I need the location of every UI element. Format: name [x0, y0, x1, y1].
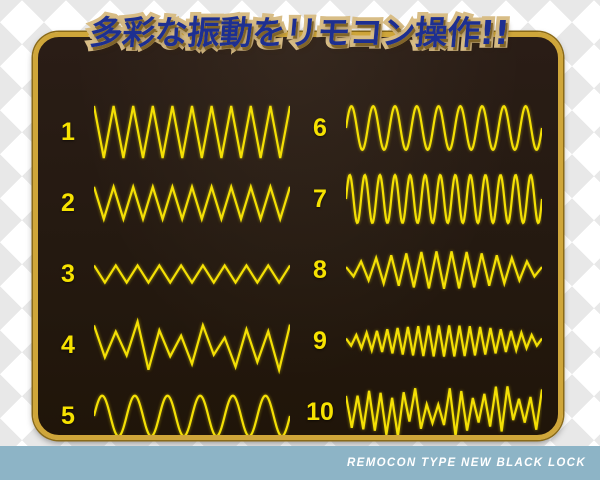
waveform-row-3[interactable]: 3 [48, 241, 290, 307]
waveform-row-7[interactable]: 7 [300, 166, 542, 232]
waveform-row-list: 12345678910 [38, 37, 558, 435]
waveform-number-label-2: 2 [48, 191, 88, 216]
waveform-trace-9 [346, 310, 542, 372]
waveform-number-label-5: 5 [48, 404, 88, 429]
waveform-panel: 12345678910 [33, 32, 563, 440]
waveform-row-4[interactable]: 4 [48, 312, 290, 378]
footer-product-label: REMOCON TYPE NEW BLACK LOCK [347, 457, 600, 469]
waveform-trace-1 [94, 101, 290, 163]
vibration-pattern-poster: 12345678910 多彩な振動をリモコン操作!! REMOCON TYPE … [0, 0, 600, 480]
waveform-row-8[interactable]: 8 [300, 237, 542, 303]
waveform-number-label-8: 8 [300, 258, 340, 283]
waveform-row-6[interactable]: 6 [300, 95, 542, 161]
footer-bar: REMOCON TYPE NEW BLACK LOCK [0, 446, 600, 480]
waveform-trace-3 [94, 243, 290, 305]
waveform-number-label-9: 9 [300, 329, 340, 354]
waveform-number-label-4: 4 [48, 333, 88, 358]
waveform-trace-7 [346, 168, 542, 230]
waveform-trace-8 [346, 239, 542, 301]
waveform-row-1[interactable]: 1 [48, 99, 290, 165]
waveform-trace-6 [346, 97, 542, 159]
waveform-number-label-7: 7 [300, 187, 340, 212]
waveform-trace-2 [94, 172, 290, 234]
waveform-row-2[interactable]: 2 [48, 170, 290, 236]
waveform-row-5[interactable]: 5 [48, 383, 290, 440]
waveform-trace-5 [94, 385, 290, 440]
waveform-row-9[interactable]: 9 [300, 308, 542, 374]
waveform-number-label-10: 10 [300, 400, 340, 425]
waveform-number-label-3: 3 [48, 262, 88, 287]
waveform-trace-4 [94, 314, 290, 376]
waveform-number-label-1: 1 [48, 120, 88, 145]
waveform-row-10[interactable]: 10 [300, 379, 542, 440]
waveform-number-label-6: 6 [300, 116, 340, 141]
waveform-trace-10 [346, 381, 542, 440]
